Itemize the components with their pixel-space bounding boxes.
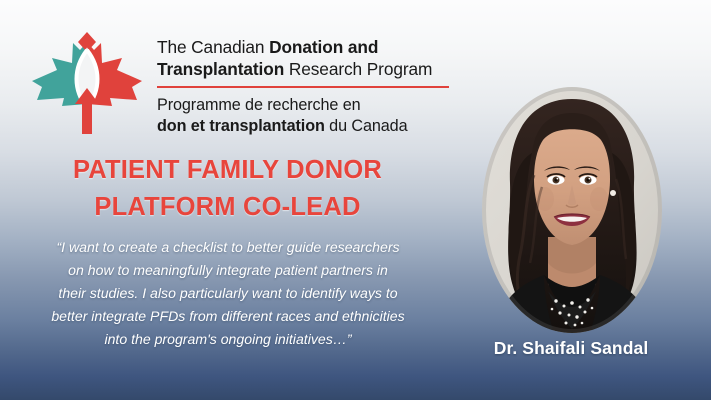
logo-english-line2: Transplantation Research Program bbox=[157, 58, 449, 80]
quote-line-2: on how to meaningfully integrate patient… bbox=[18, 259, 438, 282]
logo-english-line1: The Canadian Donation and bbox=[157, 36, 449, 58]
page-title-line1: PATIENT FAMILY DONOR bbox=[0, 152, 455, 189]
quote-line-5: into the program's ongoing initiatives…” bbox=[18, 328, 438, 351]
logo-english-line2-plain: Research Program bbox=[284, 59, 432, 79]
logo-wordmark: The Canadian Donation and Transplantatio… bbox=[157, 36, 449, 137]
maple-leaf-logo-icon bbox=[28, 30, 146, 142]
logo-english-line1-bold: Donation and bbox=[269, 37, 378, 57]
slide-canvas: The Canadian Donation and Transplantatio… bbox=[0, 0, 711, 400]
page-title-line2: PLATFORM CO-LEAD bbox=[0, 189, 455, 226]
logo-french-line2-plain: du Canada bbox=[325, 117, 408, 135]
quote-line-3: their studies. I also particularly want … bbox=[18, 282, 438, 305]
presenter-name: Dr. Shaifali Sandal bbox=[438, 338, 704, 359]
logo-french-line1: Programme de recherche en bbox=[157, 95, 449, 116]
portrait-photo bbox=[482, 87, 662, 333]
page-title: PATIENT FAMILY DONOR PLATFORM CO-LEAD bbox=[0, 152, 455, 226]
logo-english-line2-bold: Transplantation bbox=[157, 59, 284, 79]
logo-english-line1-plain: The Canadian bbox=[157, 37, 269, 57]
logo-french-line2-bold: don et transplantation bbox=[157, 117, 325, 135]
logo-divider-rule bbox=[157, 86, 449, 88]
logo-french-line2: don et transplantation du Canada bbox=[157, 116, 449, 137]
quote-line-1: “I want to create a checklist to better … bbox=[18, 236, 438, 259]
quote-line-4: better integrate PFDs from different rac… bbox=[18, 305, 438, 328]
quote-text: “I want to create a checklist to better … bbox=[18, 236, 438, 351]
